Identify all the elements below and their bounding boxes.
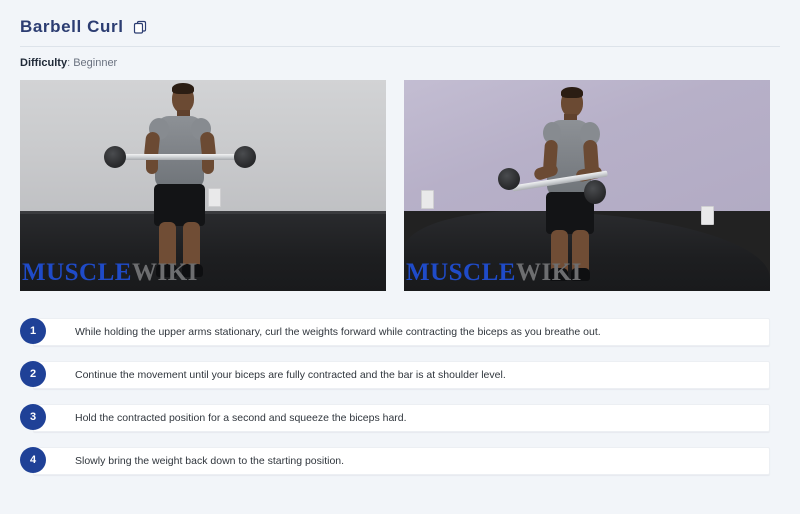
instruction-card: Slowly bring the weight back down to the…	[33, 447, 770, 475]
instruction-text: Continue the movement until your biceps …	[75, 368, 506, 382]
step-number-badge: 4	[20, 447, 46, 473]
barbell-bar	[118, 154, 242, 160]
instruction-text: Hold the contracted position for a secon…	[75, 411, 407, 425]
barbell-plate-right	[234, 146, 256, 168]
header-divider	[20, 46, 780, 47]
step-number-badge: 3	[20, 404, 46, 430]
media-row: MUSCLEWIKI	[20, 80, 780, 291]
watermark-secondary: WIKI	[516, 259, 582, 286]
barbell-plate-left	[104, 146, 126, 168]
instruction-card: While holding the upper arms stationary,…	[33, 318, 770, 346]
watermark-primary: MUSCLE	[22, 259, 132, 286]
difficulty-value: Beginner	[73, 57, 117, 69]
shorts	[154, 184, 205, 226]
instruction-item[interactable]: While holding the upper arms stationary,…	[20, 318, 780, 344]
barbell-plate-right	[584, 180, 606, 204]
instruction-list: While holding the upper arms stationary,…	[20, 318, 780, 473]
instruction-text: Slowly bring the weight back down to the…	[75, 454, 344, 468]
wall-outlet-icon	[701, 206, 714, 225]
wall-outlet-icon	[208, 188, 221, 207]
watermark-secondary: WIKI	[132, 259, 198, 286]
instruction-item[interactable]: Continue the movement until your biceps …	[20, 361, 780, 387]
step-number-badge: 2	[20, 361, 46, 387]
instruction-card: Continue the movement until your biceps …	[33, 361, 770, 389]
musclewiki-watermark: MUSCLEWIKI	[22, 259, 198, 287]
wall-outlet-icon	[421, 190, 434, 209]
instruction-item[interactable]: Hold the contracted position for a secon…	[20, 404, 780, 430]
hair	[561, 87, 583, 98]
exercise-image-end[interactable]: MUSCLEWIKI	[404, 80, 770, 291]
instruction-card: Hold the contracted position for a secon…	[33, 404, 770, 432]
hair	[172, 83, 194, 94]
difficulty-line: Difficulty: Beginner	[20, 56, 780, 70]
page-title: Barbell Curl	[20, 17, 124, 37]
exercise-detail-page: Barbell Curl Difficulty: Beginner	[0, 0, 800, 514]
instruction-text: While holding the upper arms stationary,…	[75, 325, 601, 339]
step-number-badge: 1	[20, 318, 46, 344]
title-row: Barbell Curl	[20, 0, 780, 37]
watermark-primary: MUSCLE	[406, 259, 516, 286]
exercise-image-start[interactable]: MUSCLEWIKI	[20, 80, 386, 291]
difficulty-label: Difficulty	[20, 57, 67, 69]
barbell-plate-left	[498, 168, 520, 190]
musclewiki-watermark: MUSCLEWIKI	[406, 259, 582, 287]
instruction-item[interactable]: Slowly bring the weight back down to the…	[20, 447, 780, 473]
copy-icon[interactable]	[132, 19, 148, 35]
